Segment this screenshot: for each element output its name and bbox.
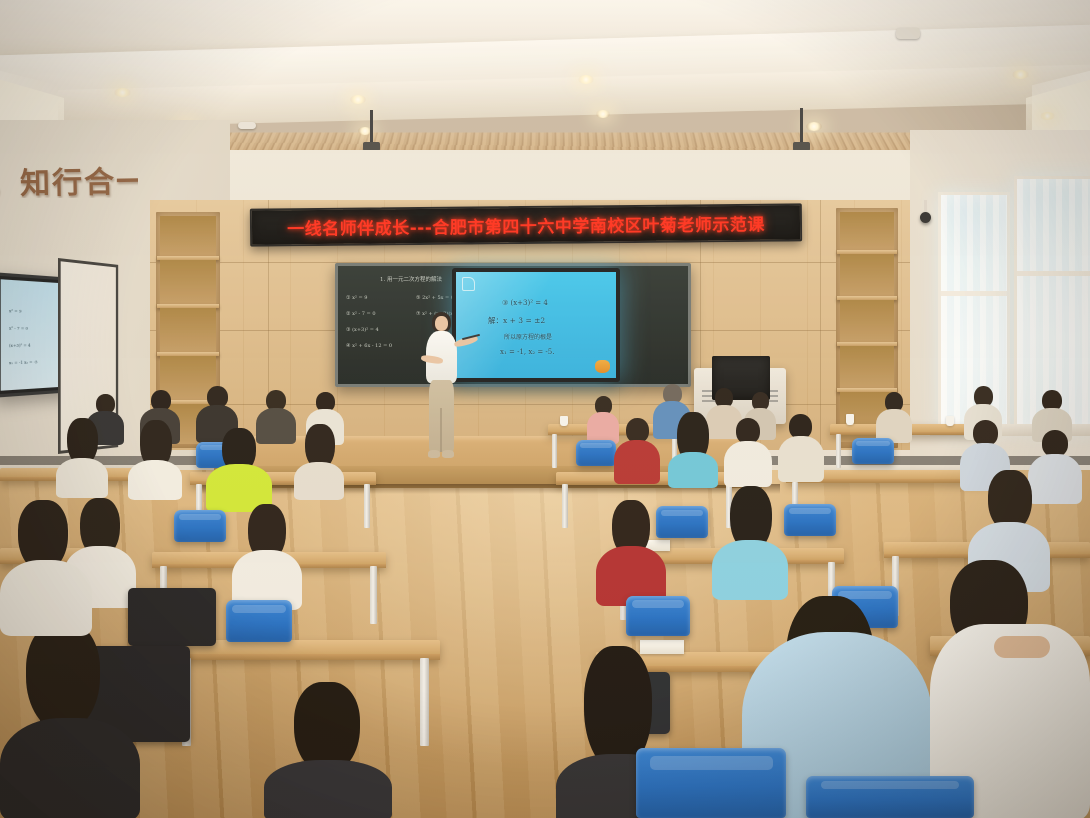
chair bbox=[174, 510, 226, 542]
backpack bbox=[128, 588, 216, 646]
attendee-yellow-top bbox=[206, 428, 272, 510]
cup bbox=[560, 416, 568, 426]
teacher-shoe bbox=[428, 450, 440, 458]
window-mullion bbox=[941, 291, 1007, 296]
attendee bbox=[876, 392, 912, 444]
attendee-body bbox=[0, 560, 92, 636]
attendee-body bbox=[778, 436, 824, 482]
attendee-body bbox=[294, 462, 344, 500]
downlight bbox=[1012, 70, 1029, 79]
chair bbox=[226, 600, 292, 642]
screen-corner-mark bbox=[462, 277, 475, 291]
attendee-body bbox=[128, 460, 182, 500]
smoke-detector-icon bbox=[896, 28, 920, 39]
blackboard-title: 1. 用一元二次方程的解法 bbox=[380, 276, 442, 284]
attendee-body bbox=[264, 760, 392, 818]
downlight bbox=[806, 122, 822, 131]
attendee bbox=[128, 420, 182, 498]
attendee-hands bbox=[994, 636, 1050, 658]
chair bbox=[626, 596, 690, 636]
wall-slogan-text: ，知行合一 bbox=[0, 158, 138, 198]
attendee-body bbox=[724, 441, 772, 487]
attendee-body bbox=[668, 452, 718, 488]
downlight bbox=[1040, 112, 1055, 120]
screen-line: ③ (x+3)² = 4 bbox=[502, 299, 548, 307]
attendee-hair bbox=[26, 622, 100, 732]
attendee-body bbox=[614, 440, 660, 484]
attendee-body bbox=[0, 718, 140, 818]
desk-leg bbox=[370, 566, 377, 624]
attendee bbox=[0, 500, 92, 632]
projector-mount bbox=[370, 110, 373, 144]
screen-mascot-icon bbox=[595, 360, 610, 373]
attendee bbox=[778, 414, 824, 484]
attendee bbox=[56, 418, 108, 496]
attendee bbox=[294, 424, 344, 498]
security-camera-icon bbox=[920, 212, 931, 223]
attendee bbox=[0, 622, 140, 818]
monitor-line: x² - 7 = 0 bbox=[9, 325, 28, 331]
attendee bbox=[712, 486, 788, 598]
projection-screen: ③ (x+3)² = 4 解：x + 3 = ±2 所以原方程的根是 x₁ = … bbox=[452, 268, 620, 382]
downlight bbox=[114, 88, 131, 97]
screen-line: x₁ = -1, x₂ = -5. bbox=[500, 348, 554, 356]
attendee bbox=[232, 504, 302, 608]
downlight bbox=[578, 75, 594, 84]
cup bbox=[846, 414, 854, 425]
smoke-detector-icon bbox=[238, 122, 256, 129]
chair-foreground bbox=[636, 748, 786, 818]
led-banner-text: 一线名师伴成长---合肥市第四十六中学南校区叶菊老师示范课 bbox=[252, 210, 800, 240]
attendee-red-top bbox=[596, 500, 666, 604]
screen-line: 解：x + 3 = ±2 bbox=[488, 315, 545, 326]
teacher-shoe bbox=[442, 450, 454, 458]
desk-leg bbox=[420, 658, 429, 746]
classroom-photo: ，知行合一 一线名师伴成长---合肥市第四十六中学南校区叶菊老师示范课 1. bbox=[0, 0, 1090, 818]
teacher-face bbox=[435, 316, 448, 331]
blackboard-item: ③ (x+3)² = 4 bbox=[346, 326, 379, 334]
desk-leg bbox=[364, 484, 370, 528]
downlight bbox=[350, 95, 366, 104]
desk-leg bbox=[562, 484, 568, 528]
attendee-body bbox=[712, 540, 788, 600]
chair bbox=[852, 438, 894, 464]
window-mullion bbox=[1017, 271, 1090, 276]
projector-mount bbox=[800, 108, 803, 144]
cup bbox=[946, 416, 954, 426]
attendee bbox=[264, 682, 392, 818]
downlight bbox=[596, 110, 610, 118]
blackboard-item: ④ x² + 6x - 12 = 0 bbox=[346, 342, 392, 350]
desk-leg bbox=[552, 434, 557, 468]
monitor-line: (x+3)² = 4 bbox=[9, 342, 31, 348]
screen-line: 所以原方程的根是 bbox=[504, 332, 552, 341]
monitor-line: x₁ = -1 x₂ = -5 bbox=[9, 359, 38, 365]
chair bbox=[784, 504, 836, 536]
chair-foreground bbox=[806, 776, 974, 818]
wall-slogan: ，知行合一 bbox=[0, 158, 138, 198]
teacher bbox=[414, 312, 468, 470]
led-banner: 一线名师伴成长---合肥市第四十六中学南校区叶菊老师示范课 bbox=[250, 203, 802, 246]
teacher-trouser-gap bbox=[440, 408, 442, 452]
attendee-body bbox=[56, 458, 108, 498]
attendee bbox=[614, 418, 660, 484]
panel-seam bbox=[820, 200, 821, 450]
blackboard-item: ① x² = 9 bbox=[346, 294, 367, 302]
monitor-line: x² = 9 bbox=[9, 308, 22, 314]
attendee bbox=[724, 418, 772, 488]
desk-leg bbox=[836, 434, 841, 468]
attendee bbox=[668, 412, 718, 486]
blackboard-item: ② x² - 7 = 0 bbox=[346, 310, 376, 318]
chair bbox=[576, 440, 616, 466]
attendee-head bbox=[1042, 430, 1068, 457]
